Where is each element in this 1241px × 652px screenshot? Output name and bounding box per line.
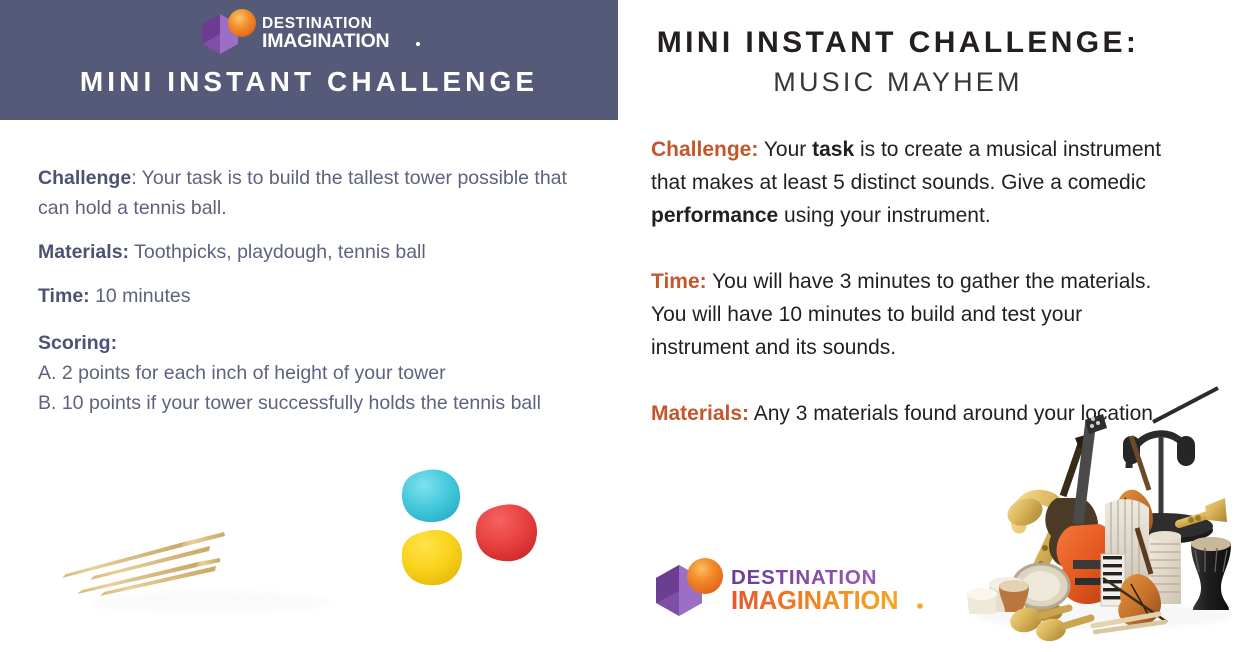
right-challenge-part1: Your <box>758 138 812 161</box>
instruments-svg <box>953 378 1241 640</box>
left-challenge-paragraph: Challenge: Your task is to build the tal… <box>38 163 598 223</box>
djembe-drum-icon <box>1191 537 1231 610</box>
left-time-text: 10 minutes <box>90 285 191 307</box>
destination-imagination-logo-footer: DESTINATION IMAGINATION <box>652 556 928 618</box>
logo-sphere-icon-footer <box>687 558 723 594</box>
playdough-yellow <box>402 530 462 585</box>
left-scoring-heading: Scoring: <box>38 328 598 358</box>
playdough-blue <box>402 469 460 522</box>
right-challenge-paragraph: Challenge: Your task is to create a musi… <box>651 133 1176 232</box>
logo-footer-line2: IMAGINATION <box>731 587 898 615</box>
left-materials-text: Toothpicks, playdough, tennis ball <box>129 241 426 263</box>
logo-registered-dot <box>416 42 420 46</box>
musical-instruments-image <box>953 378 1241 640</box>
slide-page: DESTINATION IMAGINATION MINI INSTANT CHA… <box>0 0 1241 652</box>
logo-line2: IMAGINATION <box>262 30 389 52</box>
left-card-title: MINI INSTANT CHALLENGE <box>0 62 618 102</box>
di-logo-svg: DESTINATION IMAGINATION <box>196 8 428 56</box>
playdough-red <box>476 504 537 561</box>
left-card-header-band: DESTINATION IMAGINATION MINI INSTANT CHA… <box>0 0 618 120</box>
left-challenge-card: DESTINATION IMAGINATION MINI INSTANT CHA… <box>0 0 618 652</box>
toothpicks-image <box>60 520 350 630</box>
left-time-paragraph: Time: 10 minutes <box>38 281 598 311</box>
right-materials-label: Materials: <box>651 402 749 425</box>
left-materials-paragraph: Materials: Toothpicks, playdough, tennis… <box>38 237 598 267</box>
right-challenge-bold-performance: performance <box>651 204 778 227</box>
left-scoring-item-a: A. 2 points for each inch of height of y… <box>38 358 598 388</box>
left-time-label: Time: <box>38 285 90 307</box>
toothpicks-svg <box>60 520 350 630</box>
playdough-svg <box>375 465 565 605</box>
di-logo-footer-svg: DESTINATION IMAGINATION <box>652 556 928 618</box>
destination-imagination-logo: DESTINATION IMAGINATION <box>196 8 428 56</box>
logo-footer-registered-dot <box>917 603 923 609</box>
logo-sphere-icon <box>228 9 256 37</box>
left-card-body: Challenge: Your task is to build the tal… <box>38 163 598 418</box>
left-challenge-sep: : <box>131 167 141 189</box>
toothpick-sticks <box>62 532 225 596</box>
right-time-paragraph: Time: You will have 3 minutes to gather … <box>651 265 1176 364</box>
right-time-text: You will have 3 minutes to gather the ma… <box>651 270 1151 359</box>
right-challenge-label: Challenge: <box>651 138 758 161</box>
right-card-subtitle: MUSIC MAYHEM <box>618 64 1178 100</box>
right-time-label: Time: <box>651 270 707 293</box>
right-challenge-bold-task: task <box>812 138 854 161</box>
left-materials-label: Materials: <box>38 241 129 263</box>
logo-footer-line1: DESTINATION <box>731 566 877 589</box>
playdough-image <box>375 465 565 605</box>
right-challenge-part3: using your instrument. <box>778 204 990 227</box>
trumpet-icon <box>1179 498 1227 524</box>
left-challenge-label: Challenge <box>38 167 131 189</box>
left-scoring-label: Scoring: <box>38 332 117 354</box>
left-scoring-item-b: B. 10 points if your tower successfully … <box>38 388 598 418</box>
right-card-title: MINI INSTANT CHALLENGE: <box>618 24 1178 62</box>
